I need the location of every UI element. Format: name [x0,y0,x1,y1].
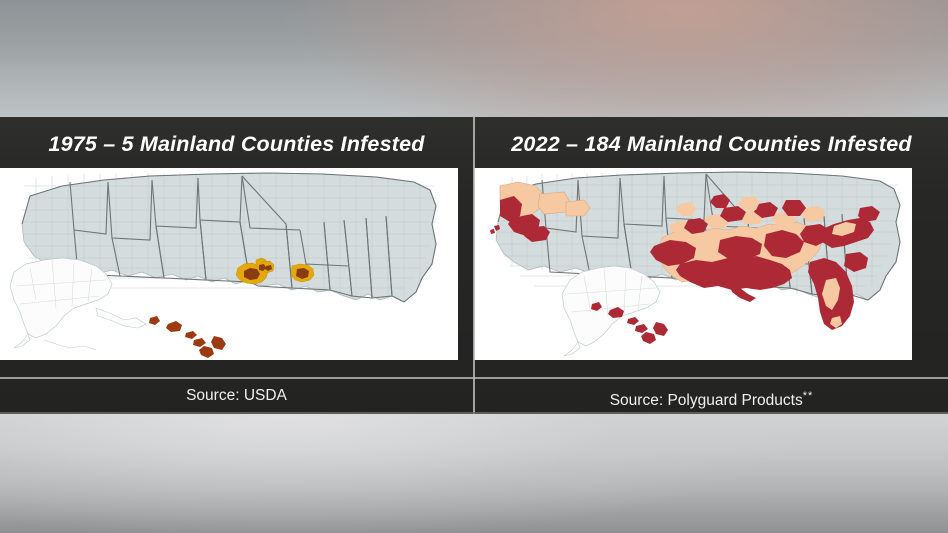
panel-caption-1975: Source: USDA [0,383,473,409]
map-1975-svg [0,168,458,360]
caption-divider-horizontal [0,377,948,379]
panel-divider-vertical [473,117,475,414]
map-2022[interactable] [474,168,912,360]
source-label-2022: Source: Polyguard Products [610,392,803,409]
panel-title-2022: 2022 – 184 Mainland Counties Infested [475,127,948,161]
panel-caption-2022: Source: Polyguard Products** [475,383,948,409]
slide-canvas: 1975 – 5 Mainland Counties Infested 2022… [0,0,948,533]
footnote-marker: ** [803,390,814,402]
slide-background-top [0,0,948,118]
map-2022-svg [474,168,912,360]
slide-background-bottom [0,414,948,533]
map-1975[interactable] [0,168,458,360]
band-bottom-edge [0,412,948,414]
source-label-1975: Source: USDA [186,387,287,404]
panel-title-1975: 1975 – 5 Mainland Counties Infested [0,127,473,161]
